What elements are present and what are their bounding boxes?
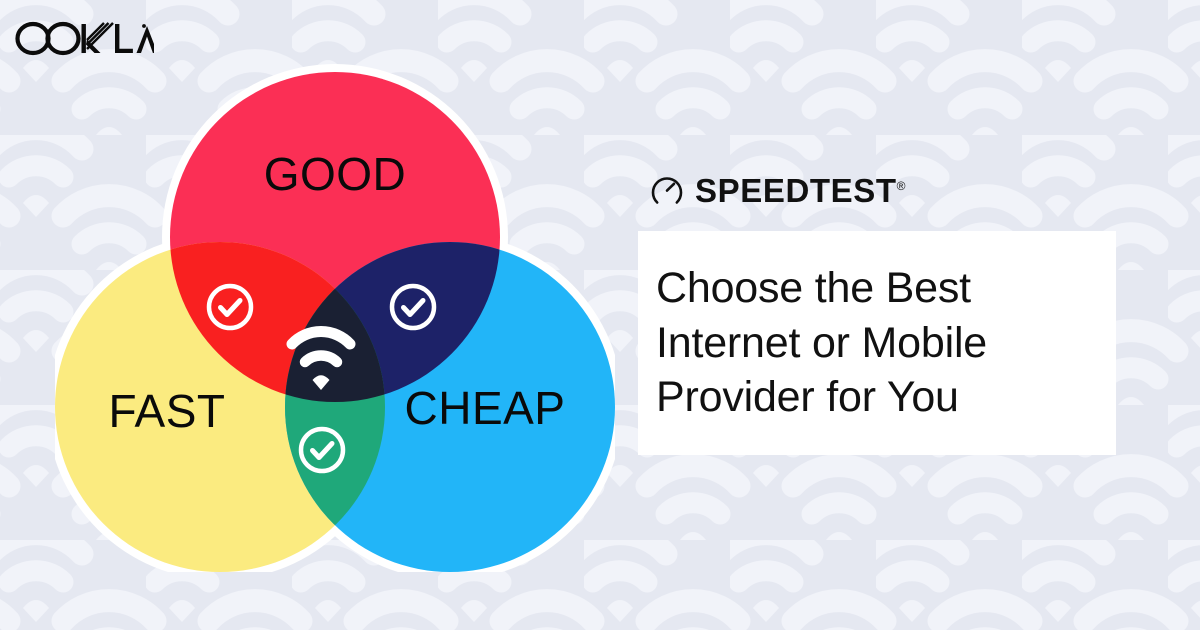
- speedtest-wordmark-text: SPEEDTEST: [695, 172, 897, 209]
- venn-label-cheap: CHEAP: [405, 382, 566, 434]
- speedtest-logo: SPEEDTEST®: [650, 168, 1128, 212]
- speedometer-gauge-icon: [650, 173, 684, 207]
- headline-card: Choose the Best Internet or Mobile Provi…: [638, 231, 1116, 455]
- venn-diagram: GOOD FAST CHEAP: [55, 62, 615, 572]
- venn-label-good: GOOD: [264, 148, 407, 200]
- speedtest-wordmark: SPEEDTEST®: [695, 174, 906, 207]
- poster-canvas: GOOD FAST CHEAP: [0, 0, 1200, 630]
- headline-line-1: Choose the Best: [656, 261, 1086, 316]
- page-title: Choose the Best Internet or Mobile Provi…: [656, 261, 1086, 425]
- headline-line-3: Provider for You: [656, 370, 1086, 425]
- ookla-logo: [14, 18, 154, 58]
- registered-mark: ®: [897, 179, 906, 193]
- right-content-column: SPEEDTEST® Choose the Best Internet or M…: [638, 168, 1128, 455]
- ookla-k-glyph: [82, 23, 114, 53]
- venn-label-fast: FAST: [108, 385, 225, 437]
- headline-line-2: Internet or Mobile: [656, 316, 1086, 371]
